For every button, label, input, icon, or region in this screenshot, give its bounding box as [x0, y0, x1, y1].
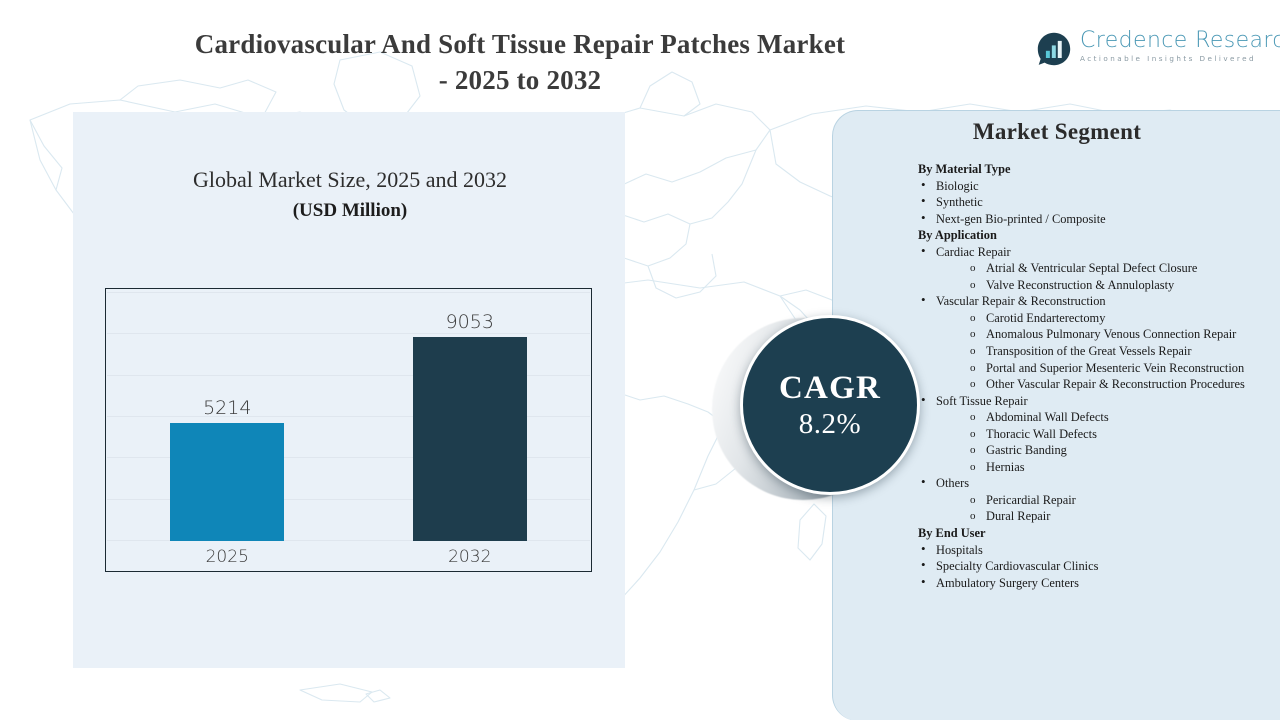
cagr-value: 8.2%: [799, 407, 861, 441]
segment-heading: By Application: [918, 227, 1263, 244]
segment-item: Next-gen Bio-printed / Composite: [918, 211, 1263, 228]
bar-chart: 5214202590532032: [105, 288, 592, 572]
infographic-canvas: Cardiovascular And Soft Tissue Repair Pa…: [0, 0, 1280, 720]
brand-name: Credence Research: [1080, 28, 1280, 54]
page-title: Cardiovascular And Soft Tissue Repair Pa…: [60, 26, 980, 98]
segment-item: Synthetic: [918, 194, 1263, 211]
bar-group: 5214: [170, 423, 284, 541]
segment-subitem: Hernias: [918, 459, 1263, 476]
segment-subitem: Carotid Endarterectomy: [918, 310, 1263, 327]
segment-heading: By Material Type: [918, 161, 1263, 178]
bar-group: 9053: [413, 337, 527, 541]
segment-subitem: Dural Repair: [918, 508, 1263, 525]
segment-subitem: Abdominal Wall Defects: [918, 409, 1263, 426]
segment-subitem: Portal and Superior Mesenteric Vein Reco…: [918, 360, 1263, 377]
segment-heading: By End User: [918, 525, 1263, 542]
cagr-badge: CAGR 8.2%: [740, 315, 920, 495]
bar-value-label: 5214: [203, 397, 251, 419]
segment-item: Cardiac Repair: [918, 244, 1263, 261]
bar-category-label: 2025: [206, 547, 249, 567]
segment-subitem: Gastric Banding: [918, 442, 1263, 459]
segment-item: Others: [918, 475, 1263, 492]
segment-subitem: Other Vascular Repair & Reconstruction P…: [918, 376, 1263, 393]
segment-subitem: Valve Reconstruction & Annuloplasty: [918, 277, 1263, 294]
segment-subitem: Pericardial Repair: [918, 492, 1263, 509]
brand-logo-text: Credence Research Actionable Insights De…: [1080, 28, 1280, 64]
bar-chart-circle-icon: [1036, 31, 1072, 67]
bar-rect-2032: [413, 337, 527, 541]
gridline: [107, 333, 590, 334]
bar-category-label: 2032: [448, 547, 491, 567]
page-title-line1: Cardiovascular And Soft Tissue Repair Pa…: [195, 29, 845, 59]
segment-subitem: Transposition of the Great Vessels Repai…: [918, 343, 1263, 360]
segment-item: Hospitals: [918, 542, 1263, 559]
gridline: [107, 292, 590, 293]
segment-item: Biologic: [918, 178, 1263, 195]
page-title-line2: - 2025 to 2032: [60, 62, 980, 98]
chart-subtitle: (USD Million): [80, 197, 620, 225]
segment-item: Vascular Repair & Reconstruction: [918, 293, 1263, 310]
segment-item: Specialty Cardiovascular Clinics: [918, 558, 1263, 575]
market-segment-list: By Material TypeBiologicSyntheticNext-ge…: [918, 161, 1263, 591]
chart-title: Global Market Size, 2025 and 2032: [80, 165, 620, 195]
segment-subitem: Anomalous Pulmonary Venous Connection Re…: [918, 326, 1263, 343]
segment-subitem: Thoracic Wall Defects: [918, 426, 1263, 443]
cagr-label: CAGR: [779, 369, 881, 407]
segment-item: Ambulatory Surgery Centers: [918, 575, 1263, 592]
segment-subitem: Atrial & Ventricular Septal Defect Closu…: [918, 260, 1263, 277]
bar-rect-2025: [170, 423, 284, 541]
market-segment-title: Market Segment: [852, 119, 1262, 145]
bar-value-label: 9053: [446, 311, 494, 333]
brand-tagline: Actionable Insights Delivered: [1080, 54, 1280, 64]
brand-logo[interactable]: Credence Research Actionable Insights De…: [1036, 28, 1256, 72]
segment-item: Soft Tissue Repair: [918, 393, 1263, 410]
